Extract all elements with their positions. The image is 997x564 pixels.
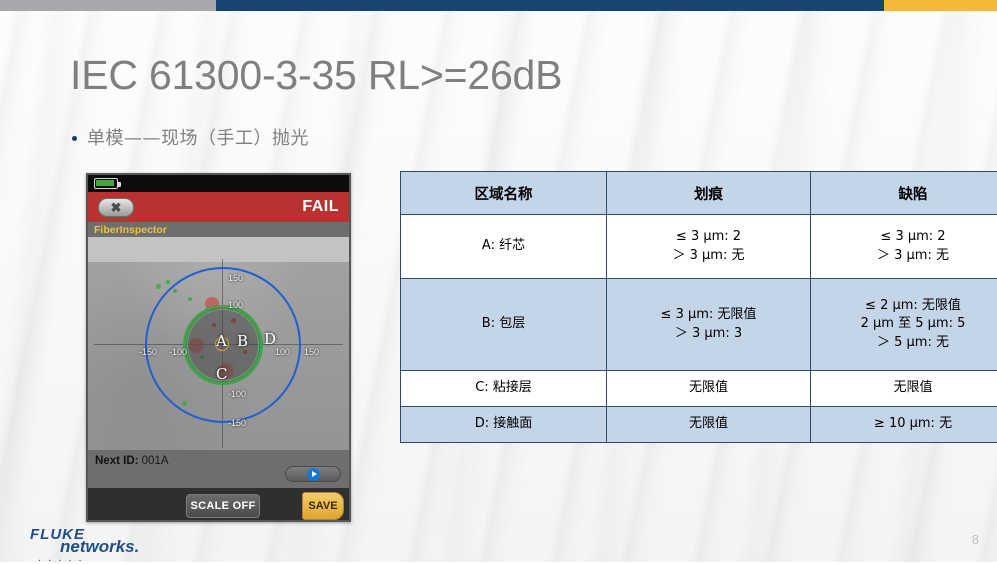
axis-tick-y-150: 150 xyxy=(228,273,243,283)
axis-tick-y-neg150: -150 xyxy=(228,418,246,428)
limit-line: 无限值 xyxy=(611,379,806,397)
zone-name-text: D: 接触面 xyxy=(475,416,533,431)
axis-tick-y-neg100: -100 xyxy=(228,389,246,399)
scale-off-button[interactable]: SCALE OFF xyxy=(186,494,260,518)
axis-tick-x-neg150: -150 xyxy=(139,347,157,357)
bullet-item: 单模——现场（手工）抛光 xyxy=(72,124,309,150)
banner-segment-blue xyxy=(216,0,884,11)
column-header-zone: 区域名称 xyxy=(401,172,607,215)
limit-line: ≤ 3 μm: 无限值 xyxy=(611,306,806,324)
cell-scratch-limits: ≤ 3 μm: 2＞ 3 μm: 无 xyxy=(607,215,811,279)
device-status-bar xyxy=(88,175,349,192)
device-app-bar: FiberInspector xyxy=(88,222,349,237)
play-icon xyxy=(307,468,320,481)
logo-dots: . . . . . xyxy=(38,552,84,564)
table-header-row: 区域名称 划痕 缺陷 xyxy=(401,172,997,215)
cell-defect-limits: 无限值 xyxy=(811,371,997,407)
bullet-text: 单模——现场（手工）抛光 xyxy=(87,124,309,150)
cell-defect-limits: ≤ 3 μm: 2＞ 3 μm: 无 xyxy=(811,215,997,279)
cell-scratch-limits: 无限值 xyxy=(607,407,811,443)
limit-line: ≤ 3 μm: 2 xyxy=(611,228,806,246)
battery-fill xyxy=(96,180,114,186)
zone-name-text: A: 纤芯 xyxy=(482,238,525,253)
limit-line: ＞ 3 μm: 3 xyxy=(611,325,806,343)
fiber-inspector-device-screenshot: ✖ FAIL FiberInspector A B C D -150 -100 xyxy=(86,173,351,522)
top-banner xyxy=(0,0,997,11)
next-id-caption: Next ID: xyxy=(95,455,138,467)
column-header-defects: 缺陷 xyxy=(811,172,997,215)
limit-line: ≥ 10 μm: 无 xyxy=(815,415,997,433)
cell-zone-name: A: 纤芯 xyxy=(401,215,607,279)
table-row: D: 接触面无限值≥ 10 μm: 无 xyxy=(401,407,997,443)
bullet-dot-icon xyxy=(72,136,77,141)
close-icon[interactable]: ✖ xyxy=(98,198,134,217)
defect-mark xyxy=(156,284,161,289)
app-title: FiberInspector xyxy=(94,224,167,236)
zone-label-d: D xyxy=(264,330,276,348)
zone-name-text: B: 包层 xyxy=(482,316,525,331)
cell-zone-name: D: 接触面 xyxy=(401,407,607,443)
limit-line: ＞ 3 μm: 无 xyxy=(611,247,806,265)
next-id-value: 001A xyxy=(142,455,169,467)
limit-line: 2 μm 至 5 μm: 5 xyxy=(815,315,997,333)
endface-top-band xyxy=(88,237,349,262)
limit-line: ＞ 3 μm: 无 xyxy=(815,247,997,265)
limit-line: 无限值 xyxy=(611,415,806,433)
table-row: B: 包层≤ 3 μm: 无限值＞ 3 μm: 3≤ 2 μm: 无限值2 μm… xyxy=(401,279,997,371)
device-next-id-bar: Next ID: 001A xyxy=(88,450,349,488)
cell-zone-name: C: 粘接层 xyxy=(401,371,607,407)
cell-defect-limits: ≥ 10 μm: 无 xyxy=(811,407,997,443)
cell-scratch-limits: 无限值 xyxy=(607,371,811,407)
page-number: 8 xyxy=(972,532,979,547)
zone-name-text: C: 粘接层 xyxy=(475,380,532,395)
banner-segment-yellow xyxy=(884,0,997,11)
limit-line: ＞ 5 μm: 无 xyxy=(815,334,997,352)
zone-label-c: C xyxy=(216,365,227,383)
axis-tick-x-100: 100 xyxy=(275,347,290,357)
limit-line: 无限值 xyxy=(815,379,997,397)
cell-defect-limits: ≤ 2 μm: 无限值2 μm 至 5 μm: 5＞ 5 μm: 无 xyxy=(811,279,997,371)
banner-segment-gray xyxy=(0,0,216,11)
save-button[interactable]: SAVE xyxy=(302,492,344,520)
fiber-endface-image[interactable]: A B C D -150 -100 100 150 150 100 -100 -… xyxy=(88,237,349,450)
zone-limits-table: 区域名称 划痕 缺陷 A: 纤芯≤ 3 μm: 2＞ 3 μm: 无≤ 3 μm… xyxy=(400,171,997,443)
fluke-networks-logo: FLUKE networks. . . . . . xyxy=(22,526,172,556)
page-title: IEC 61300-3-35 RL>=26dB xyxy=(70,52,562,99)
axis-tick-y-100: 100 xyxy=(228,300,243,310)
battery-icon xyxy=(94,178,118,189)
table-row: A: 纤芯≤ 3 μm: 2＞ 3 μm: 无≤ 3 μm: 2＞ 3 μm: … xyxy=(401,215,997,279)
zone-label-a: A xyxy=(216,332,227,350)
cell-scratch-limits: ≤ 3 μm: 无限值＞ 3 μm: 3 xyxy=(607,279,811,371)
column-header-scratches: 划痕 xyxy=(607,172,811,215)
device-result-bar: ✖ FAIL xyxy=(88,192,349,222)
defect-mark xyxy=(166,280,170,284)
play-button[interactable] xyxy=(285,466,341,482)
zone-label-b: B xyxy=(237,332,248,350)
table-row: C: 粘接层无限值无限值 xyxy=(401,371,997,407)
cell-zone-name: B: 包层 xyxy=(401,279,607,371)
limit-line: ≤ 2 μm: 无限值 xyxy=(815,297,997,315)
device-button-bar: SCALE OFF SAVE xyxy=(88,488,349,522)
next-id-label: Next ID: 001A xyxy=(95,455,169,467)
status-badge: FAIL xyxy=(302,198,339,216)
limit-line: ≤ 3 μm: 2 xyxy=(815,228,997,246)
axis-tick-x-neg100: -100 xyxy=(169,347,187,357)
axis-tick-x-150: 150 xyxy=(304,347,319,357)
